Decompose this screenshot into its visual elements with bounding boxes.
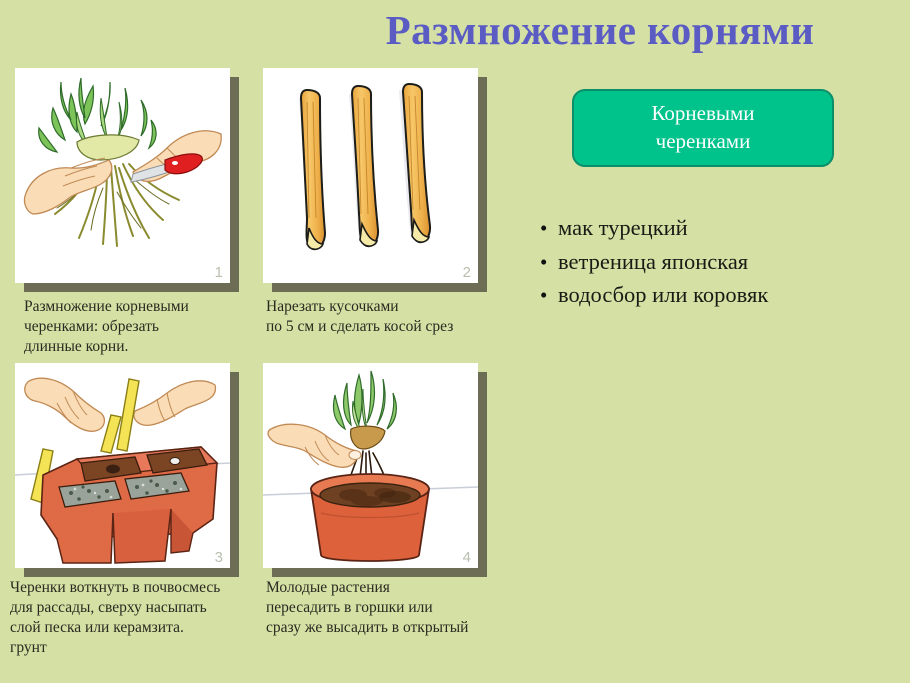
figure-4-caption: Молодые растения пересадить в горшки или… <box>266 578 516 638</box>
figure-3-number: 3 <box>215 549 223 566</box>
slide-root: Размножение корнями <box>0 0 910 683</box>
list-item-label: водосбор или коровяк <box>558 283 768 307</box>
figure-3-illustration <box>15 363 230 568</box>
bullet-icon: • <box>540 285 558 306</box>
callout-box: Корневыми черенками <box>572 89 834 167</box>
figure-1-caption: Размножение корневыми черенками: обрезат… <box>24 297 256 357</box>
figure-1: 1 <box>15 68 230 283</box>
list-item: • ветреница японская <box>540 250 910 274</box>
list-item-label: мак турецкий <box>558 216 688 240</box>
figure-3: 3 <box>15 363 230 568</box>
list-item: • водосбор или коровяк <box>540 283 910 307</box>
figure-2-illustration <box>263 68 478 283</box>
figure-3-caption: Черенки воткнуть в почвосмесь для рассад… <box>10 578 262 658</box>
page-title: Размножение корнями <box>300 8 900 52</box>
figure-4-illustration <box>263 363 478 568</box>
figure-1-illustration <box>15 68 230 283</box>
figure-2: 2 <box>263 68 478 283</box>
callout-text: Корневыми черенками <box>651 100 754 156</box>
bullet-icon: • <box>540 218 558 239</box>
figure-1-number: 1 <box>215 264 223 281</box>
figure-2-number: 2 <box>463 264 471 281</box>
list-item: • мак турецкий <box>540 216 910 240</box>
figure-4: 4 <box>263 363 478 568</box>
list-item-label: ветреница японская <box>558 250 748 274</box>
figure-2-caption: Нарезать кусочками по 5 см и сделать кос… <box>266 297 516 337</box>
bullet-icon: • <box>540 252 558 273</box>
figure-4-number: 4 <box>463 549 471 566</box>
plant-list: • мак турецкий • ветреница японская • во… <box>540 216 910 317</box>
